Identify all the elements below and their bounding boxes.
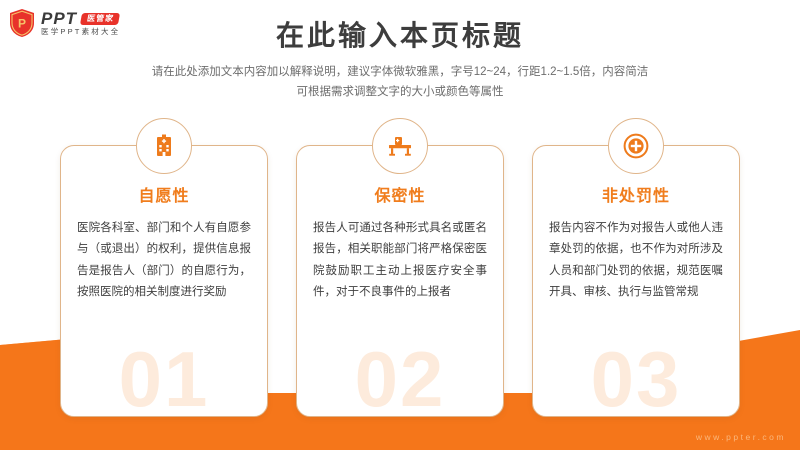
footer-website-url: www.ppter.com bbox=[696, 432, 786, 442]
card-body-2: 报告人可通过各种形式具名或匿名报告，相关职能部门将严格保密医院鼓励职工主动上报医… bbox=[313, 218, 487, 303]
page-subtitle-line-1: 请在此处添加文本内容加以解释说明，建议字体微软雅黑，字号12~24，行距1.2~… bbox=[0, 62, 800, 82]
page-subtitle: 请在此处添加文本内容加以解释说明，建议字体微软雅黑，字号12~24，行距1.2~… bbox=[0, 62, 800, 102]
card-title-3: 非处罚性 bbox=[549, 182, 723, 206]
card-item-1[interactable]: 01 自愿性 医院各科室、部门和个人有自愿参与（或退出）的权利，提供信息报告是报… bbox=[60, 145, 268, 417]
card-item-2[interactable]: 02 保密性 报告人可通过各种形式具名或匿名报告，相关职能部门将严格保密医院鼓励… bbox=[296, 145, 504, 417]
card-body-1: 医院各科室、部门和个人有自愿参与（或退出）的权利，提供信息报告是报告人（部门）的… bbox=[77, 218, 251, 303]
card-icon-circle-2 bbox=[372, 118, 428, 174]
card-number-3: 03 bbox=[533, 340, 739, 417]
card-body-3: 报告内容不作为对报告人或他人违章处罚的依据，也不作为对所涉及人员和部门处罚的依据… bbox=[549, 218, 723, 303]
card-icon-circle-3 bbox=[608, 118, 664, 174]
medical-cross-circle-icon bbox=[622, 132, 650, 160]
card-icon-circle-1 bbox=[136, 118, 192, 174]
page-title: 在此输入本页标题 bbox=[0, 14, 800, 54]
card-number-1: 01 bbox=[61, 340, 267, 417]
card-title-2: 保密性 bbox=[313, 182, 487, 206]
card-item-3[interactable]: 03 非处罚性 报告内容不作为对报告人或他人违章处罚的依据，也不作为对所涉及人员… bbox=[532, 145, 740, 417]
hospital-bed-icon bbox=[386, 133, 414, 159]
card-title-1: 自愿性 bbox=[77, 182, 251, 206]
card-number-2: 02 bbox=[297, 340, 503, 417]
cards-container: 01 自愿性 医院各科室、部门和个人有自愿参与（或退出）的权利，提供信息报告是报… bbox=[0, 145, 800, 420]
page-subtitle-line-2: 可根据需求调整文字的大小或颜色等属性 bbox=[0, 82, 800, 102]
hospital-building-icon bbox=[151, 133, 177, 159]
